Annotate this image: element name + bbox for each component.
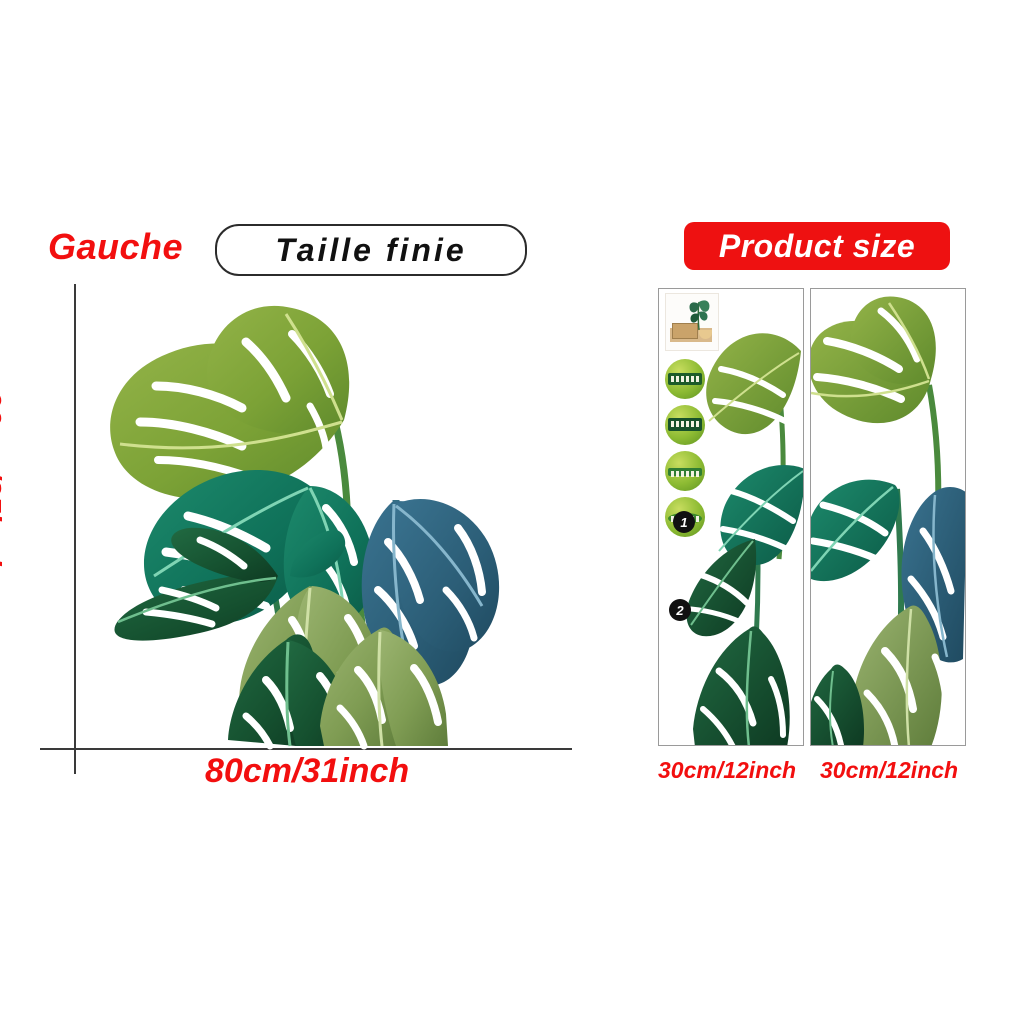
product-sheet-1: 1 2 [658,288,804,746]
finished-size-badge-label: Taille finie [275,232,466,269]
product-sheet-2 [810,288,966,746]
monstera-illustration [96,290,566,746]
sheet2-illustration [811,289,965,745]
sticker-circle-3 [665,451,705,491]
left-height-dimension: 90cm/35inch [0,390,8,576]
sheet-marker-2: 2 [669,599,691,621]
room-preview-thumbnail [665,293,719,351]
product-size-badge: Product size [684,222,950,270]
sheet-marker-1: 1 [673,511,695,533]
sheet1-width-dimension: 30cm/12inch [658,757,796,784]
sticker-label-band [668,418,702,431]
sticker-label-band [668,468,702,476]
product-size-badge-label: Product size [719,228,915,265]
finished-size-badge: Taille finie [215,224,527,276]
monstera-artwork-left [96,290,566,746]
sheet2-artwork [811,289,965,745]
thumbnail-plant-icon [686,296,712,330]
left-side-label: Gauche [48,226,183,268]
sheet2-width-dimension: 30cm/12inch [820,757,958,784]
left-width-dimension: 80cm/31inch [205,752,409,791]
product-sheets: 1 2 [658,288,966,746]
sticker-label-band [668,373,702,385]
sticker-circle-2 [665,405,705,445]
vertical-dimension-line [74,284,76,774]
size-chart-canvas: Gauche Taille finie 90cm/35inch 80cm/31i… [0,0,1024,1024]
sticker-circle-1 [665,359,705,399]
horizontal-dimension-line [40,748,572,750]
